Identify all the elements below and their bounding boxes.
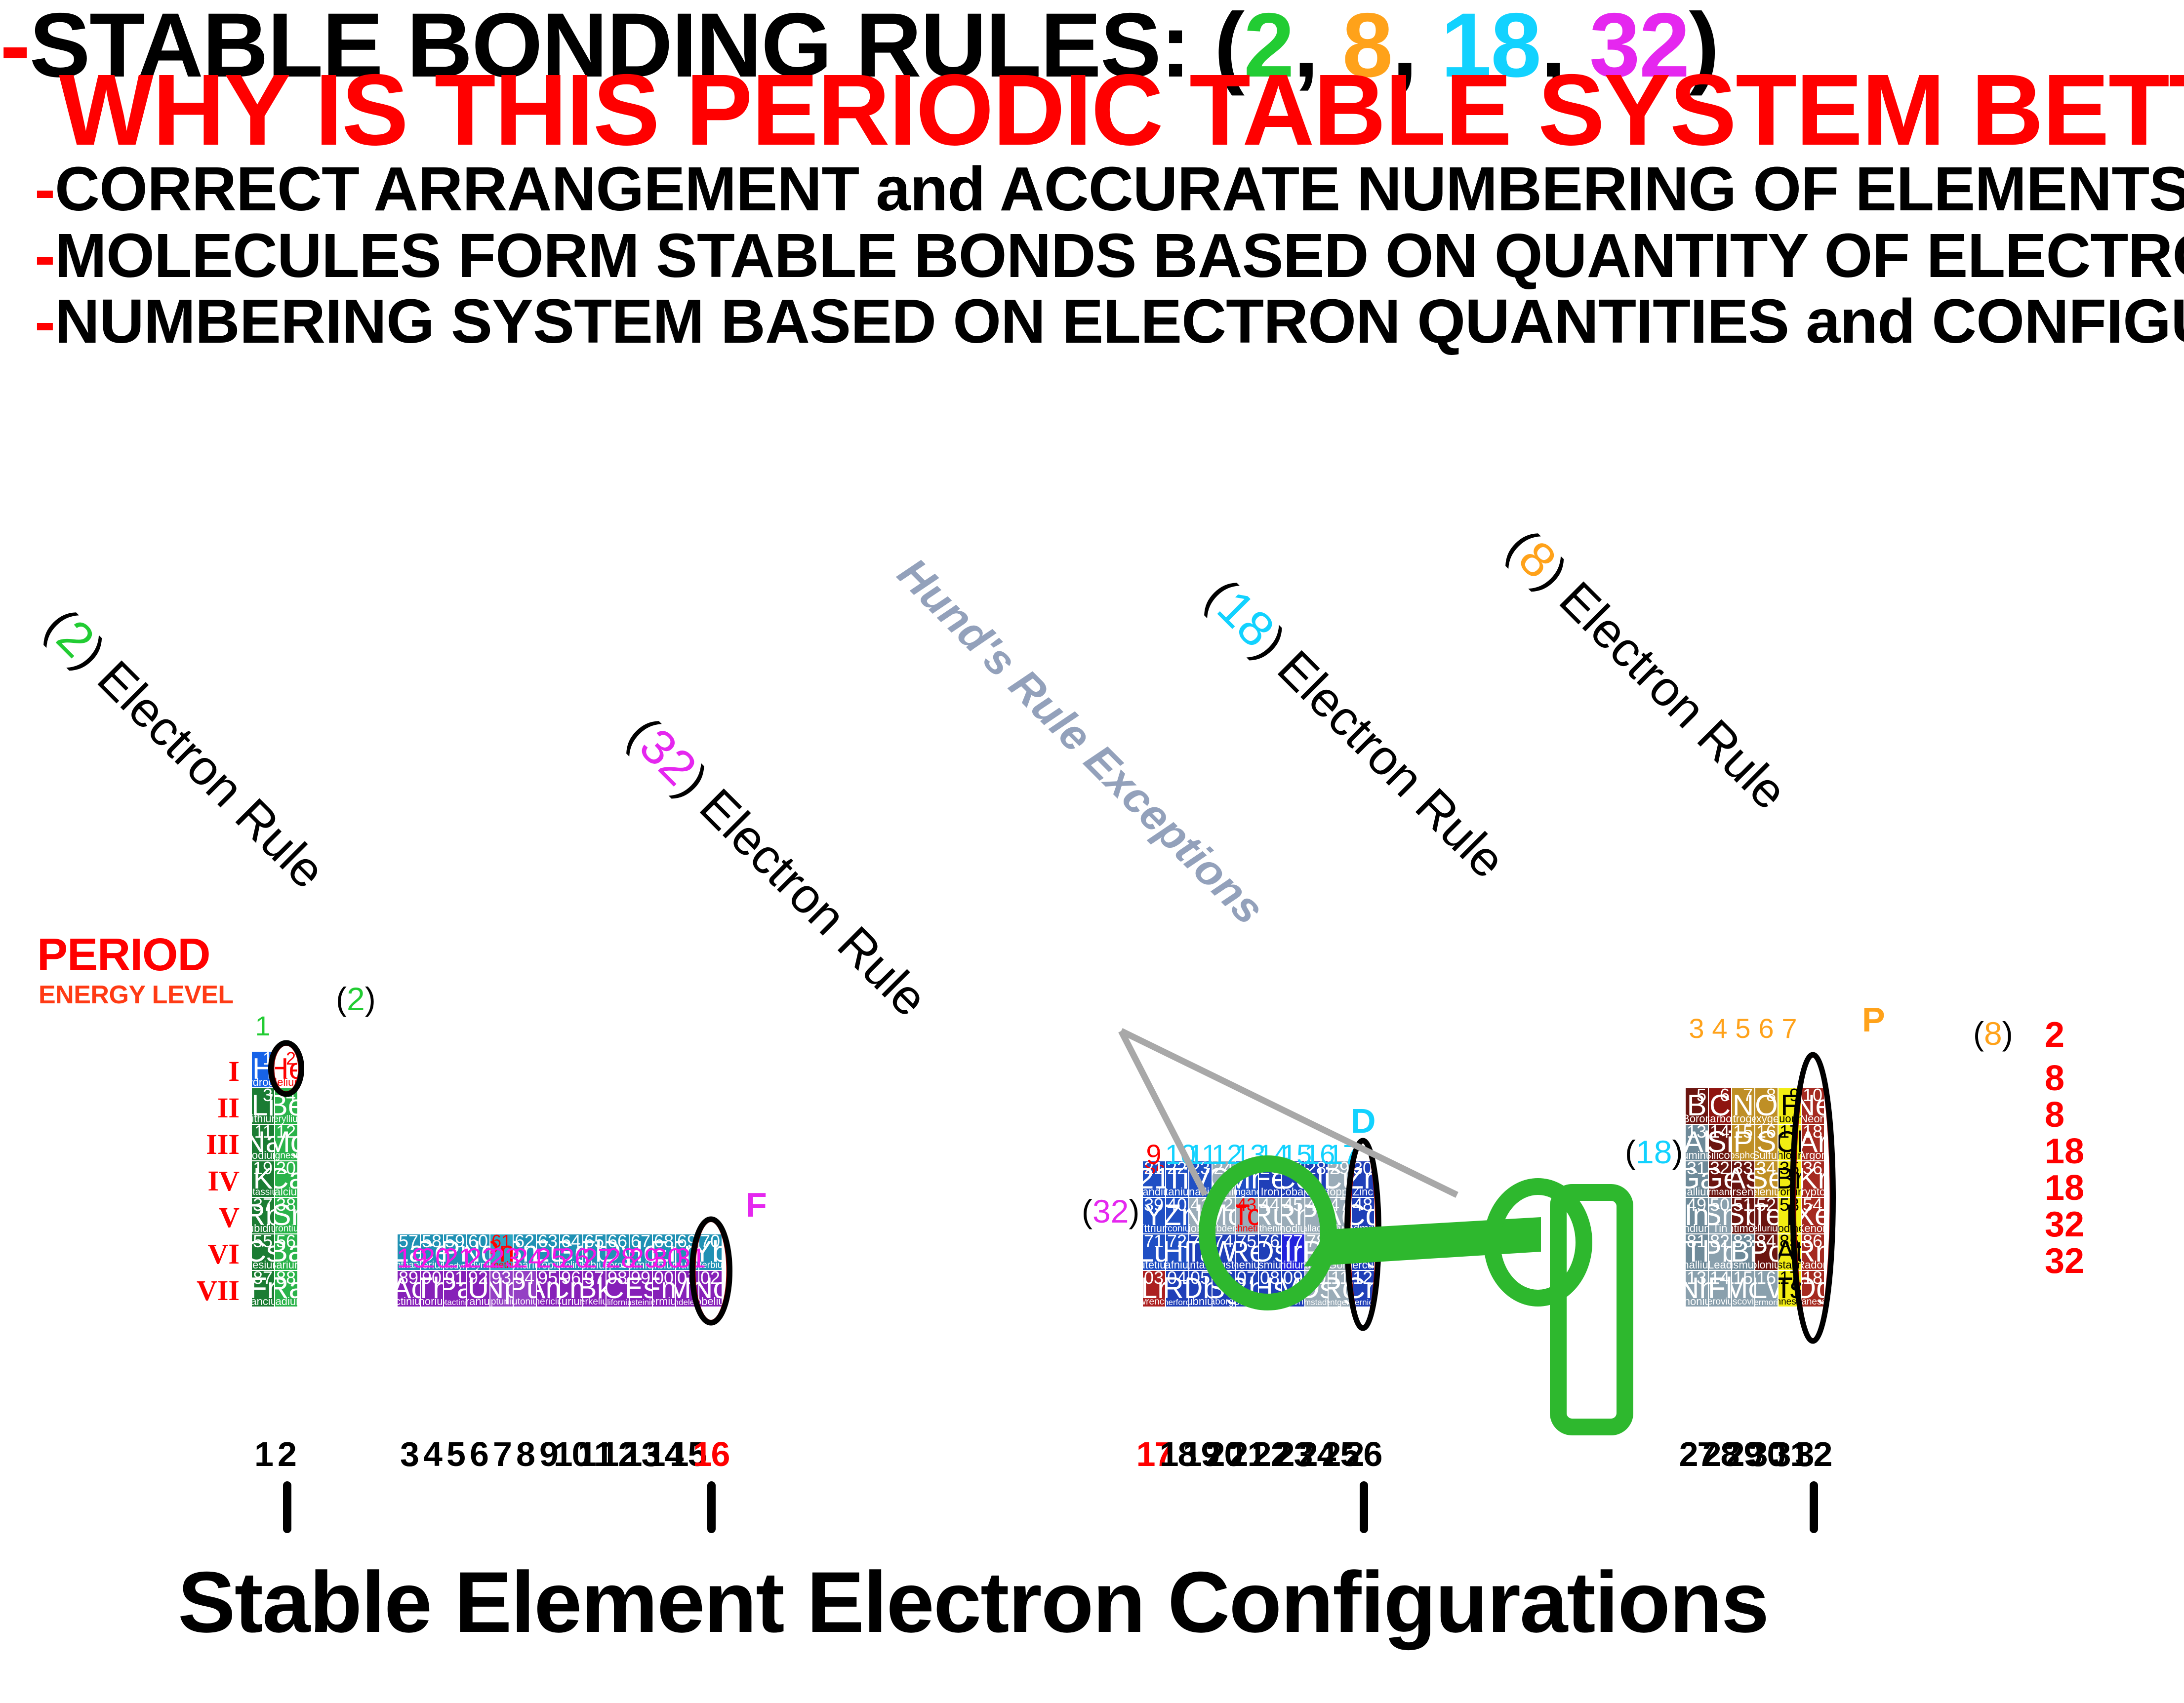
element-name: Einsteinium: [630, 1298, 652, 1307]
element-name: Zinc: [1353, 1186, 1374, 1197]
element-cell-y[interactable]: 39YYttrium: [1143, 1198, 1165, 1233]
element-name: Chromium: [1213, 1186, 1235, 1197]
p-block-col-number-3: 3: [1685, 1015, 1708, 1042]
d-block-col-number-14: 14: [1258, 1141, 1282, 1168]
close-paren: ): [1129, 1193, 1139, 1229]
f-block-col-number-19: 19: [397, 1244, 420, 1272]
bottom-count-32: 32: [1794, 1437, 1833, 1471]
element-name: Barium: [275, 1259, 297, 1270]
element-cell-as[interactable]: 33AsArsenic: [1732, 1161, 1754, 1197]
element-cell-u[interactable]: 92UUranium: [467, 1271, 489, 1307]
element-name: Beryllium: [275, 1114, 297, 1124]
element-cell-bh[interactable]: 107BhBohrium: [1236, 1271, 1258, 1307]
d-block-letter: D: [1351, 1104, 1376, 1138]
tick-bar: [707, 1481, 716, 1533]
element-name: Gold: [1329, 1259, 1351, 1270]
element-cell-hs[interactable]: 108HsHassium: [1259, 1271, 1281, 1307]
p-block-letter: P: [1862, 1002, 1885, 1037]
element-cell-cd[interactable]: 48CdCadmium: [1352, 1198, 1374, 1233]
element-name: Calcium: [275, 1186, 297, 1197]
element-cell-mc[interactable]: 115McMoscovium: [1732, 1271, 1754, 1307]
element-name: Indium: [1686, 1223, 1708, 1233]
element-cell-au[interactable]: 79AuGold: [1329, 1234, 1351, 1270]
f-block-col-number-25: 25: [536, 1244, 560, 1272]
element-cell-nh[interactable]: 113NhNihonium: [1686, 1271, 1708, 1307]
tag-value: 8: [1984, 1015, 2002, 1052]
d-block-col-number-11: 11: [1188, 1141, 1212, 1168]
f-block-col-number-30: 30: [652, 1244, 676, 1272]
element-name: Hafnium: [1166, 1259, 1188, 1270]
element-name: Americium: [537, 1297, 559, 1307]
f-block-col-number-23: 23: [489, 1244, 513, 1272]
element-name: Strontium: [275, 1224, 297, 1233]
element-name: Tantalum: [1189, 1259, 1212, 1270]
element-cell-bi[interactable]: 83BiBismuth: [1732, 1234, 1754, 1270]
element-name: Flerovium: [1709, 1297, 1731, 1307]
element-cell-f[interactable]: 9FFluorine: [1779, 1088, 1801, 1124]
element-name: Krypton: [1802, 1186, 1824, 1197]
element-cell-pu[interactable]: 94PuPlutonium: [514, 1271, 536, 1307]
element-name: Silver: [1329, 1223, 1351, 1233]
element-name: Nobelium: [699, 1296, 722, 1307]
element-cell-zr[interactable]: 40ZrZirconium: [1166, 1198, 1188, 1233]
d-block-col-number-15: 15: [1281, 1141, 1305, 1168]
element-cell-xe[interactable]: 54XeXenon: [1802, 1198, 1824, 1233]
element-name: Argon: [1802, 1149, 1824, 1160]
element-cell-lr[interactable]: 103LrLawrencium: [1143, 1271, 1165, 1307]
element-name: Palladium: [1305, 1224, 1328, 1233]
period-numeral-i: I: [183, 1055, 240, 1088]
element-name: Nitrogen: [1732, 1113, 1754, 1124]
f-block-col-number-28: 28: [606, 1244, 629, 1272]
element-name: Polonium: [1755, 1259, 1778, 1270]
element-name: Plutonium: [514, 1297, 536, 1307]
element-cell-ba[interactable]: 56BaBarium: [275, 1234, 297, 1270]
element-cell-n[interactable]: 7NNitrogen: [1732, 1088, 1754, 1124]
element-cell-he[interactable]: 2HeHelium: [275, 1052, 297, 1087]
element-name: Aluminum: [1686, 1149, 1708, 1160]
element-cell-fr[interactable]: 87FrFrancium: [252, 1271, 274, 1307]
element-name: Silicon: [1709, 1149, 1731, 1160]
element-cell-p[interactable]: 15PPhosphorus: [1732, 1125, 1754, 1160]
p-block-col-number-5: 5: [1731, 1015, 1755, 1042]
element-name: Radon: [1802, 1259, 1824, 1270]
element-cell-o[interactable]: 8OOxygen: [1755, 1088, 1778, 1124]
element-cell-cs[interactable]: 55CsCesium: [252, 1234, 274, 1270]
element-name: Iron: [1261, 1186, 1280, 1197]
element-cell-ra[interactable]: 88RaRadium: [275, 1271, 297, 1307]
tag-value: 2: [347, 981, 365, 1017]
element-cell-fm[interactable]: 100FmFermium: [653, 1271, 675, 1307]
tag-value: 32: [1092, 1193, 1129, 1229]
period-numeral-iii: III: [183, 1128, 240, 1161]
element-cell-no[interactable]: 102NoNobelium: [699, 1271, 722, 1307]
element-cell-th[interactable]: 90ThThorium: [421, 1271, 443, 1307]
element-cell-og[interactable]: 118OgOganesson: [1802, 1271, 1824, 1307]
close-paren: ): [2002, 1015, 2013, 1052]
element-name: Tungsten: [1213, 1259, 1235, 1270]
element-name: Copper: [1329, 1186, 1351, 1197]
element-cell-rg[interactable]: 111RgRoentgenium: [1329, 1271, 1351, 1307]
period-numeral-ii: II: [183, 1091, 240, 1124]
element-cell-rh[interactable]: 45RhRhodium: [1282, 1198, 1304, 1233]
element-name: Astatine: [1779, 1259, 1801, 1270]
open-paren: (: [336, 981, 347, 1017]
f-block-col-number-20: 20: [420, 1244, 444, 1272]
element-cell-rn[interactable]: 86RnRadon: [1802, 1234, 1824, 1270]
element-cell-ir[interactable]: 77IrIridium: [1282, 1234, 1304, 1270]
element-name: Livermorium: [1755, 1298, 1778, 1307]
element-cell-kr[interactable]: 36KrKrypton: [1802, 1161, 1824, 1197]
element-cell-h[interactable]: 1HHydrogen: [252, 1052, 274, 1087]
element-cell-w[interactable]: 74WTungsten: [1213, 1234, 1235, 1270]
element-name: Scandium: [1143, 1186, 1165, 1197]
element-cell-k[interactable]: 19KPotassium: [252, 1161, 274, 1197]
d-block-col-number-9: 9: [1142, 1141, 1166, 1168]
element-cell-rb[interactable]: 37RbRubidium: [252, 1198, 274, 1233]
open-paren: (: [1625, 1134, 1636, 1170]
element-cell-ag[interactable]: 47AgSilver: [1329, 1198, 1351, 1233]
element-cell-cn[interactable]: 112CnCopernicium: [1352, 1271, 1374, 1307]
bottom-caption: Stable Element Electron Configurations: [178, 1553, 1768, 1652]
element-cell-pt[interactable]: 78PtPlatinum: [1305, 1234, 1328, 1270]
element-name: Lawrencium: [1143, 1297, 1165, 1307]
element-name: Mercury: [1352, 1259, 1374, 1270]
f-block-col-number-29: 29: [629, 1244, 652, 1272]
tick-bar: [283, 1481, 291, 1533]
element-cell-pb[interactable]: 82PbLead: [1709, 1234, 1731, 1270]
element-name: Cesium: [252, 1259, 274, 1270]
element-cell-bk[interactable]: 97BkBerkelium: [583, 1271, 606, 1307]
element-cell-po[interactable]: 84PoPolonium: [1755, 1234, 1778, 1270]
element-cell-hg[interactable]: 80HgMercury: [1352, 1234, 1374, 1270]
element-name: Californium: [607, 1298, 629, 1307]
element-name: Uranium: [467, 1296, 489, 1307]
element-name: Antimony: [1732, 1223, 1754, 1233]
element-cell-cl[interactable]: 17ClChlorine: [1779, 1125, 1801, 1160]
s-block-col-number-1: 1: [251, 1012, 275, 1040]
element-name: Lithium: [252, 1113, 274, 1124]
element-name: Darmstadtium: [1305, 1298, 1328, 1307]
element-name: Gallium: [1686, 1186, 1708, 1197]
element-cell-ac[interactable]: 89AcActinium: [398, 1271, 420, 1307]
element-name: Technetium: [1236, 1224, 1258, 1233]
element-cell-b[interactable]: 5BBoron: [1686, 1088, 1708, 1124]
element-name: Lutetium: [1143, 1259, 1165, 1270]
element-cell-am[interactable]: 95AmAmericium: [537, 1271, 559, 1307]
noble-gas-electron-count-5: 32: [2045, 1207, 2084, 1242]
noble-gas-electron-count-6: 32: [2045, 1243, 2084, 1279]
close-paren: ): [365, 981, 376, 1017]
element-name: Phosphorus: [1732, 1151, 1754, 1160]
block-tag-f-32: (32): [1082, 1195, 1139, 1228]
period-numeral-vi: VI: [183, 1237, 240, 1270]
element-name: Bismuth: [1732, 1259, 1754, 1270]
element-cell-ar[interactable]: 18ArArgon: [1802, 1125, 1824, 1160]
element-cell-fl[interactable]: 114FlFlerovium: [1709, 1271, 1731, 1307]
element-cell-ca[interactable]: 20CaCalcium: [275, 1161, 297, 1197]
element-cell-nb[interactable]: 41NbNiobium: [1189, 1198, 1212, 1233]
tag-value: 18: [1636, 1134, 1672, 1170]
element-cell-br[interactable]: 35BrBromine: [1779, 1161, 1801, 1197]
element-name: Arsenic: [1732, 1186, 1754, 1197]
period-numeral-v: V: [183, 1201, 240, 1234]
element-name: Rhodium: [1282, 1223, 1304, 1233]
element-cell-cm[interactable]: 96CmCurium: [560, 1271, 582, 1307]
element-name: Vanadium: [1189, 1186, 1212, 1197]
element-cell-md[interactable]: 101MdMendelevium: [676, 1271, 698, 1307]
element-name: Potassium: [252, 1188, 274, 1197]
f-block-col-number-24: 24: [513, 1244, 536, 1272]
noble-gas-electron-count-0: 2: [2045, 1017, 2064, 1053]
p-block-col-number-6: 6: [1754, 1015, 1778, 1042]
element-name: Neon: [1802, 1113, 1824, 1124]
period-numeral-iv: IV: [183, 1164, 240, 1197]
element-name: Curium: [560, 1296, 582, 1307]
element-cell-ge[interactable]: 32GeGermanium: [1709, 1161, 1731, 1197]
element-cell-tl[interactable]: 81TlThallium: [1686, 1234, 1708, 1270]
block-tag-p-8: (8): [1973, 1017, 2013, 1050]
element-name: Cadmium: [1352, 1223, 1374, 1233]
element-name: Dubnium: [1189, 1296, 1212, 1307]
tick-bar: [1810, 1481, 1818, 1533]
bottom-count-16: 16: [691, 1437, 731, 1471]
noble-gas-electron-count-2: 8: [2045, 1097, 2064, 1133]
block-tag-s-2: (2): [336, 983, 376, 1015]
element-name: Xenon: [1802, 1223, 1824, 1233]
element-name: Osmium: [1259, 1259, 1281, 1270]
f-block-col-number-22: 22: [466, 1244, 490, 1272]
f-block-col-number-26: 26: [559, 1244, 583, 1272]
element-name: Zirconium: [1166, 1224, 1188, 1233]
element-name: Selenium: [1755, 1186, 1778, 1197]
element-cell-c[interactable]: 6CCarbon: [1709, 1088, 1731, 1124]
element-name: Tin: [1713, 1223, 1728, 1233]
open-paren: (: [1973, 1015, 1984, 1052]
noble-gas-electron-count-3: 18: [2045, 1134, 2084, 1169]
element-name: Bohrium: [1236, 1296, 1258, 1307]
d-block-col-number-17: 17: [1328, 1141, 1351, 1168]
p-block-col-number-4: 4: [1708, 1015, 1732, 1042]
element-cell-np[interactable]: 93NpNeptunium: [490, 1271, 513, 1307]
element-name: Thallium: [1686, 1259, 1708, 1270]
element-cell-i[interactable]: 53IIodine: [1779, 1198, 1801, 1233]
element-cell-at[interactable]: 85AtAstatine: [1779, 1234, 1801, 1270]
element-name: Nickel: [1305, 1186, 1328, 1197]
element-cell-cf[interactable]: 98CfCalifornium: [607, 1271, 629, 1307]
element-name: Hydrogen: [252, 1076, 274, 1087]
element-name: Francium: [252, 1296, 274, 1307]
element-cell-pa[interactable]: 91PaProtactinium: [444, 1271, 466, 1307]
element-name: Copernicium: [1352, 1298, 1374, 1307]
element-cell-tc[interactable]: 43TcTechnetium: [1236, 1198, 1258, 1233]
element-cell-os[interactable]: 76OsOsmium: [1259, 1234, 1281, 1270]
element-name: Seaborgium: [1213, 1297, 1235, 1307]
element-name: Meitnerium: [1282, 1297, 1304, 1307]
element-name: Manganese: [1236, 1188, 1258, 1197]
element-name: Roentgenium: [1329, 1298, 1351, 1307]
element-cell-db[interactable]: 105DbDubnium: [1189, 1271, 1212, 1307]
element-cell-sr[interactable]: 38SrStrontium: [275, 1198, 297, 1233]
element-cell-sn[interactable]: 50SnTin: [1709, 1198, 1731, 1233]
element-cell-si[interactable]: 14SiSilicon: [1709, 1125, 1731, 1160]
element-cell-in[interactable]: 49InIndium: [1686, 1198, 1708, 1233]
f-block-col-number-31: 31: [675, 1244, 699, 1272]
element-name: Platinum: [1305, 1259, 1328, 1270]
element-cell-mt[interactable]: 109MtMeitnerium: [1282, 1271, 1304, 1307]
element-cell-ta[interactable]: 73TaTantalum: [1189, 1234, 1212, 1270]
element-name: Berkelium: [583, 1297, 606, 1307]
f-block-col-number-21: 21: [443, 1244, 467, 1272]
element-name: Tennessine: [1779, 1297, 1801, 1307]
element-name: Neptunium: [490, 1297, 513, 1307]
close-paren: ): [1672, 1134, 1683, 1170]
period-numeral-vii: VII: [183, 1274, 240, 1307]
bottom-count-26: 26: [1344, 1437, 1383, 1471]
element-name: Yttrium: [1143, 1223, 1165, 1233]
noble-gas-electron-count-1: 8: [2045, 1061, 2064, 1096]
d-block-col-number-12: 12: [1212, 1141, 1235, 1168]
element-name: Moscovium: [1732, 1297, 1754, 1307]
bottom-count-2: 2: [267, 1437, 307, 1471]
element-name: Cobalt: [1282, 1186, 1304, 1197]
d-block-col-number-13: 13: [1235, 1141, 1258, 1168]
element-name: Rutherfordium: [1166, 1298, 1188, 1307]
element-cell-es[interactable]: 99EsEinsteinium: [630, 1271, 652, 1307]
element-name: Rubidium: [252, 1223, 274, 1233]
element-name: Carbon: [1709, 1113, 1731, 1124]
element-name: Protactinium: [444, 1298, 466, 1307]
element-cell-lu[interactable]: 71LuLutetium: [1143, 1234, 1165, 1270]
element-cell-be[interactable]: 4BeBeryllium: [275, 1088, 297, 1124]
element-name: Nihonium: [1686, 1296, 1708, 1307]
element-cell-ts[interactable]: 117TsTennessine: [1779, 1271, 1801, 1307]
d-block-col-number-16: 16: [1304, 1141, 1328, 1168]
element-name: Tellurium: [1755, 1224, 1778, 1233]
element-name: Chlorine: [1779, 1149, 1801, 1160]
f-block-col-number-27: 27: [582, 1244, 606, 1272]
element-cell-se[interactable]: 34SeSelenium: [1755, 1161, 1778, 1197]
element-name: Titanium: [1166, 1186, 1188, 1197]
element-name: Niobium: [1189, 1223, 1212, 1233]
element-name: Thorium: [421, 1296, 443, 1307]
element-name: Iridium: [1282, 1259, 1304, 1270]
element-cell-na[interactable]: 11NaSodium: [252, 1125, 274, 1160]
element-name: Actinium: [398, 1296, 420, 1307]
element-cell-hf[interactable]: 72HfHafnium: [1166, 1234, 1188, 1270]
element-cell-ds[interactable]: 110DsDarmstadtium: [1305, 1271, 1328, 1307]
element-name: Hassium: [1259, 1296, 1281, 1307]
f-block-letter: F: [746, 1188, 767, 1222]
p-block-col-number-7: 7: [1778, 1015, 1801, 1042]
element-name: Oxygen: [1755, 1113, 1778, 1124]
element-name: Lead: [1709, 1259, 1731, 1270]
block-tag-d-18: (18): [1625, 1136, 1683, 1168]
noble-gas-electron-count-4: 18: [2045, 1170, 2084, 1206]
element-name: Fluorine: [1779, 1113, 1801, 1124]
element-name: Fermium: [653, 1296, 675, 1307]
element-cell-pd[interactable]: 46PdPalladium: [1305, 1198, 1328, 1233]
element-name: Boron: [1686, 1113, 1708, 1124]
open-paren: (: [1082, 1193, 1092, 1229]
element-name: Mendelevium: [676, 1298, 698, 1307]
element-cell-mo[interactable]: 42MoMolybdenum: [1213, 1198, 1235, 1233]
element-cell-re[interactable]: 75ReRhenium: [1236, 1234, 1258, 1270]
element-name: Helium: [275, 1076, 297, 1087]
element-cell-te[interactable]: 52TeTellurium: [1755, 1198, 1778, 1233]
element-cell-ga[interactable]: 31GaGallium: [1686, 1161, 1708, 1197]
element-name: Sulfur: [1755, 1149, 1778, 1160]
element-cell-ne[interactable]: 10NeNeon: [1802, 1088, 1824, 1124]
element-cell-lv[interactable]: 116LvLivermorium: [1755, 1271, 1778, 1307]
element-cell-mg[interactable]: 12MgMagnesium: [275, 1125, 297, 1160]
element-name: Rhenium: [1236, 1259, 1258, 1270]
element-name: Magnesium: [275, 1151, 297, 1160]
d-block-col-number-10: 10: [1165, 1141, 1189, 1168]
element-name: Bromine: [1779, 1186, 1801, 1197]
tick-bar: [1360, 1481, 1368, 1533]
element-name: Oganesson: [1802, 1297, 1824, 1307]
element-name: Radium: [275, 1296, 297, 1307]
element-name: Germanium: [1709, 1188, 1731, 1197]
element-cell-s[interactable]: 16SSulfur: [1755, 1125, 1778, 1160]
element-name: Ruthenium: [1259, 1224, 1281, 1233]
periodic-table: 1HHydrogen2HeHelium3LiLithium4BeBerylliu…: [0, 0, 2184, 1703]
element-cell-li[interactable]: 3LiLithium: [252, 1088, 274, 1124]
element-name: Molybdenum: [1213, 1224, 1235, 1233]
element-name: Sodium: [252, 1149, 274, 1160]
element-cell-al[interactable]: 13AlAluminum: [1686, 1125, 1708, 1160]
element-cell-sg[interactable]: 106SgSeaborgium: [1213, 1271, 1235, 1307]
element-cell-rf[interactable]: 104RfRutherfordium: [1166, 1271, 1188, 1307]
element-cell-sb[interactable]: 51SbAntimony: [1732, 1198, 1754, 1233]
element-cell-ru[interactable]: 44RuRuthenium: [1259, 1198, 1281, 1233]
element-name: Iodine: [1779, 1223, 1801, 1233]
